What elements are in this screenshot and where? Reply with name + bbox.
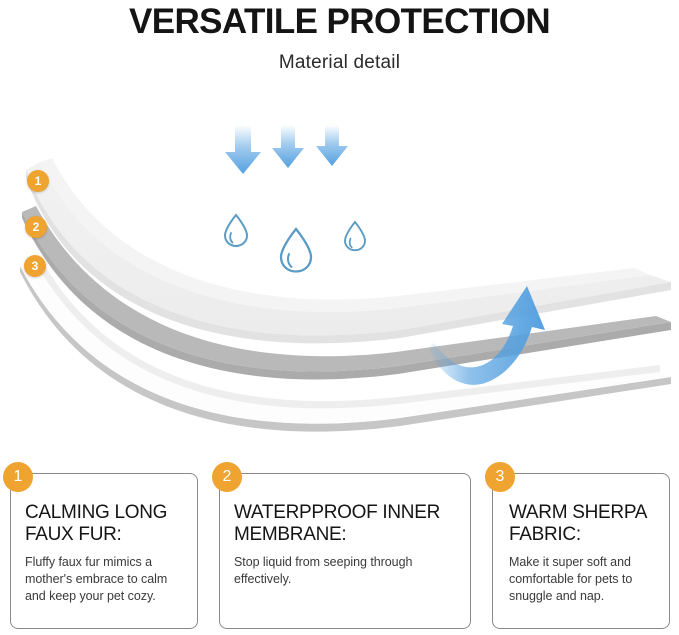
feature-text-1: Fluffy faux fur mimics a mother's embrac… bbox=[25, 546, 185, 605]
layer-marker-1: 1 bbox=[27, 170, 49, 192]
water-droplet-icon-2 bbox=[281, 229, 311, 272]
feature-card-3[interactable]: WARM SHERPA FABRIC: Make it super soft a… bbox=[492, 473, 670, 629]
down-arrow-icon-1 bbox=[225, 125, 261, 174]
feature-title-3: WARM SHERPA FABRIC: bbox=[509, 502, 657, 546]
layer-marker-3: 3 bbox=[24, 255, 46, 277]
material-layers-diagram: 1 2 3 bbox=[0, 100, 679, 450]
page-title: VERSATILE PROTECTION bbox=[0, 0, 679, 42]
down-arrow-icon-3 bbox=[316, 125, 348, 166]
page-subtitle: Material detail bbox=[0, 42, 679, 75]
layer-marker-2: 2 bbox=[25, 216, 47, 238]
down-arrow-icon-2 bbox=[272, 125, 304, 168]
water-droplet-icon-3 bbox=[345, 222, 365, 250]
feature-text-3: Make it super soft and comfortable for p… bbox=[509, 546, 657, 605]
feature-title-1: CALMING LONG FAUX FUR: bbox=[25, 502, 185, 546]
feature-card-2[interactable]: WATERPPROOF INNER MEMBRANE: Stop liquid … bbox=[219, 473, 471, 629]
feature-badge-2: 2 bbox=[212, 462, 242, 492]
feature-badge-3: 3 bbox=[485, 462, 515, 492]
header: VERSATILE PROTECTION Material detail bbox=[0, 0, 679, 75]
water-droplet-icon-1 bbox=[225, 215, 247, 246]
feature-badge-1: 1 bbox=[3, 462, 33, 492]
feature-title-2: WATERPPROOF INNER MEMBRANE: bbox=[234, 502, 458, 546]
feature-text-2: Stop liquid from seeping through effecti… bbox=[234, 546, 458, 588]
feature-card-1[interactable]: CALMING LONG FAUX FUR: Fluffy faux fur m… bbox=[10, 473, 198, 629]
feature-cards: CALMING LONG FAUX FUR: Fluffy faux fur m… bbox=[0, 462, 679, 635]
